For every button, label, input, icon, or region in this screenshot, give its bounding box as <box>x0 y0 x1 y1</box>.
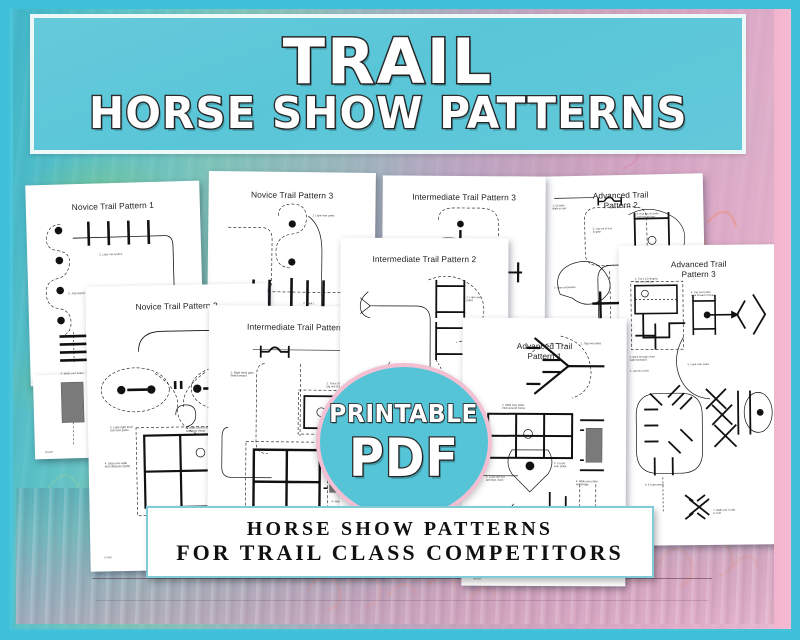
frame-border-outer <box>0 0 800 640</box>
product-mockup-canvas: Advanced Trail Pattern 2 <box>0 0 800 640</box>
